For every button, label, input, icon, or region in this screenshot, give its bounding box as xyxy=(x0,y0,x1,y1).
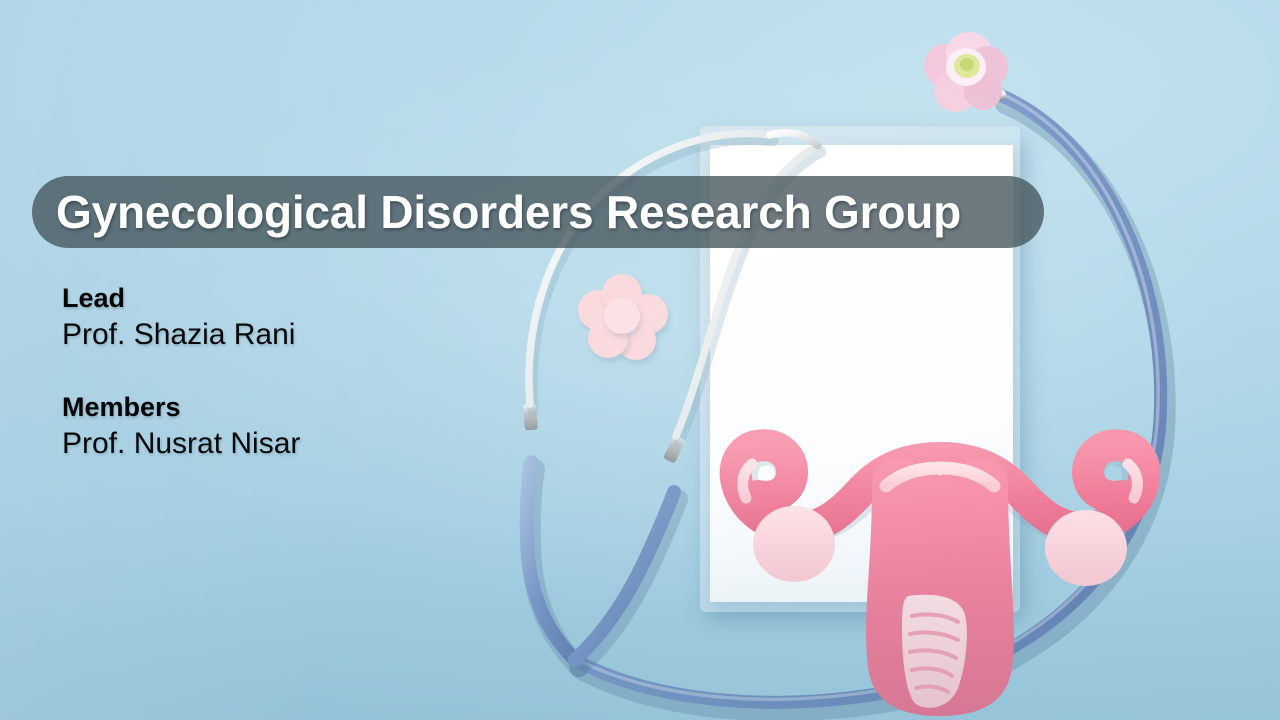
slide-canvas: Gynecological Disorders Research Group L… xyxy=(0,0,1280,720)
credit-group-members: Members Prof. Nusrat Nisar xyxy=(62,392,482,463)
page-title: Gynecological Disorders Research Group xyxy=(56,189,961,235)
lead-name: Prof. Shazia Rani xyxy=(62,315,482,354)
member-name: Prof. Nusrat Nisar xyxy=(62,424,482,463)
title-banner: Gynecological Disorders Research Group xyxy=(32,176,1044,248)
lead-role-label: Lead xyxy=(62,283,482,315)
members-role-label: Members xyxy=(62,392,482,424)
credit-group-lead: Lead Prof. Shazia Rani xyxy=(62,283,482,354)
credits-block: Lead Prof. Shazia Rani Members Prof. Nus… xyxy=(62,283,482,463)
